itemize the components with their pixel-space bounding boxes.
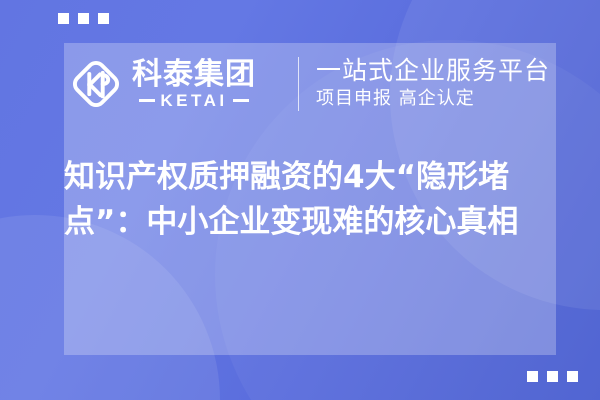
tagline-block: 一站式企业服务平台 项目申报 高企认定 [316,56,550,111]
page-title: 知识产权质押融资的4大“隐形堵点”：中小企业变现难的核心真相 [64,155,558,244]
brand-lockup: 科泰集团 KETAI [68,56,294,112]
decorative-dot [527,371,538,382]
poster-canvas: 科泰集团 KETAI 一站式企业服务平台 项目申报 高企认定 知识产权质押融资的… [0,0,600,400]
decorative-dots-top-left [58,13,109,24]
decorative-dot [78,13,89,24]
ketai-diamond-kp-logo-icon [68,56,124,112]
tagline-secondary: 项目申报 高企认定 [316,87,550,111]
tagline-primary: 一站式企业服务平台 [316,56,550,86]
brand-text-block: 科泰集团 KETAI [132,59,256,109]
brand-name-cn: 科泰集团 [132,59,256,90]
brand-en-row: KETAI [132,92,256,109]
brand-divider [298,57,299,111]
decorative-dot [98,13,109,24]
decorative-dot [547,371,558,382]
decorative-dots-bottom-right [527,371,578,382]
brand-rule-left-icon [139,99,155,102]
decorative-dot [567,371,578,382]
decorative-dot [58,13,69,24]
brand-rule-right-icon [233,99,249,102]
brand-name-en: KETAI [160,92,227,109]
brand-header: 科泰集团 KETAI 一站式企业服务平台 项目申报 高企认定 [64,43,556,125]
